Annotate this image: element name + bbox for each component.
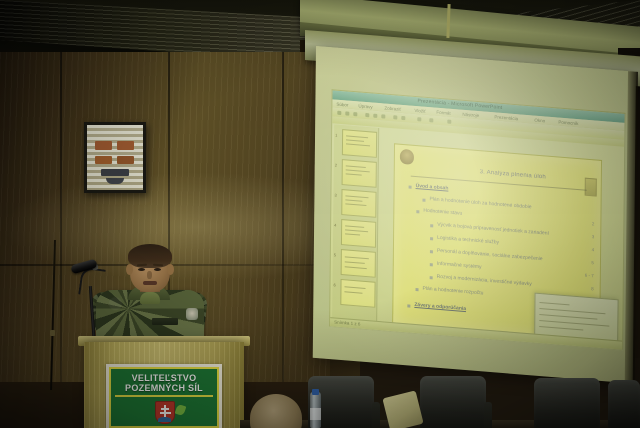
slide-bullet-icon: [430, 276, 433, 279]
slide-emblem-icon: [585, 178, 597, 197]
slide-thumbnail-number: 1: [335, 133, 337, 138]
water-bottle-label: [310, 408, 321, 420]
auditorium-seat: [420, 376, 486, 428]
toolbar-open-icon[interactable]: [345, 111, 349, 115]
slide-thumbnail-number: 2: [335, 163, 337, 168]
slide-line: Plán a hodnotenie úloh za hodnotené obdo…: [429, 196, 531, 210]
projection-screen: Prezentácia - Microsoft PowerPoint Súbor…: [313, 46, 636, 383]
speaker-ear-left: [126, 264, 133, 275]
slide-thumbnail-number: 6: [333, 282, 335, 287]
organization-logo-icon: [400, 149, 414, 165]
slide-line: Hodnotenie stavu: [423, 208, 462, 217]
projected-presentation-window: Prezentácia - Microsoft PowerPoint Súbor…: [329, 89, 625, 350]
podium-sign-divider: [115, 395, 213, 397]
menu-item-help[interactable]: Pomocník: [558, 119, 578, 126]
slovak-coat-of-arms-icon: [155, 401, 175, 424]
picture-shape: [101, 169, 129, 176]
podium-sign-inner: VELITEĽSTVO POZEMNÝCH SÍL: [109, 367, 219, 428]
picture-shape: [117, 156, 134, 164]
toolbar-chart-icon[interactable]: [429, 118, 433, 122]
slide-line: Výcvik a bojová pripravenosť jednotiek a…: [437, 222, 549, 237]
slide-thumbnail-number: 5: [334, 252, 336, 257]
status-text: Snímka 1 z 6: [334, 319, 360, 326]
speaker-nose: [147, 271, 152, 279]
auditorium-seat: [608, 380, 640, 428]
picture-shape: [117, 141, 134, 150]
slide-line: Úvod a obsah: [416, 183, 449, 192]
wall-panel-seam: [282, 52, 284, 428]
menu-item-view[interactable]: Zobraziť: [384, 105, 401, 111]
slide-bullet-icon: [422, 199, 425, 202]
slide-page-number: 2: [592, 221, 595, 226]
linden-leaf-icon: [175, 404, 187, 416]
slide-thumbnail[interactable]: [341, 249, 376, 278]
speaker-mouth: [143, 281, 157, 285]
slide-thumbnail-number: 4: [334, 222, 336, 227]
slide-bullet-icon: [409, 185, 412, 188]
water-bottle-cap: [312, 389, 319, 395]
papers-on-seat: [382, 390, 423, 428]
toolbar-print-icon[interactable]: [365, 112, 369, 116]
slide-page-number: 5: [591, 260, 594, 265]
seat-armrest: [484, 402, 492, 428]
conference-hall-photo: Prezentácia - Microsoft PowerPoint Súbor…: [0, 0, 640, 428]
menu-item-file[interactable]: Súbor: [336, 101, 348, 107]
framed-wall-picture: [84, 122, 146, 193]
menu-item-window[interactable]: Okno: [534, 117, 545, 123]
slide-bullet-icon: [407, 304, 410, 307]
speaker-eye-left: [138, 268, 145, 271]
slide-line: Logistika a technické služby: [437, 235, 499, 246]
menu-item-insert[interactable]: Vložiť: [414, 107, 426, 113]
podium-sign-line-2: POZEMNÝCH SÍL: [111, 383, 217, 393]
slide-thumbnail[interactable]: [341, 219, 376, 248]
slide-line: Informačné systémy: [437, 261, 482, 271]
picture-artwork: [87, 125, 143, 190]
shoulder-patch: [186, 308, 198, 320]
picture-shape: [95, 156, 112, 164]
slide-page-number: 6 - 7: [585, 273, 594, 279]
speaking-podium: VELITEĽSTVO POZEMNÝCH SÍL: [84, 342, 244, 428]
slide-line: Personál a doplňovanie, sociálne zabezpe…: [437, 248, 543, 262]
picture-shape: [95, 141, 112, 150]
slide-line: Plán a hodnotenie rozpočtu: [423, 286, 484, 297]
seat-armrest: [372, 402, 380, 428]
menu-item-edit[interactable]: Úpravy: [358, 103, 372, 109]
slide-thumbnail-number: 3: [334, 192, 336, 197]
podium-sign-line-1: VELITEĽSTVO: [111, 373, 217, 383]
slide-bullet-icon: [430, 224, 433, 227]
undershirt: [140, 292, 160, 304]
toolbar-save-icon[interactable]: [353, 112, 357, 116]
slide-page-number: 3: [592, 234, 595, 239]
toolbar-new-icon[interactable]: [337, 110, 341, 114]
slide-page-number: 8: [591, 286, 594, 291]
slide-page-number: 4: [592, 247, 595, 252]
slide-bullet-icon: [416, 210, 419, 213]
slide-line: Rozvoj a modernizácia, investičné výdavk…: [437, 274, 532, 288]
cable-clip: [50, 330, 55, 336]
slide-thumbnail[interactable]: [341, 189, 376, 218]
toolbar-redo-icon[interactable]: [401, 115, 405, 119]
podium-sign-plaque: VELITEĽSTVO POZEMNÝCH SÍL: [106, 364, 222, 428]
toolbar-undo-icon[interactable]: [393, 115, 397, 119]
slide-bullet-icon: [430, 250, 433, 253]
slide-bullet-icon: [416, 288, 419, 291]
toolbar-zoom-icon[interactable]: [447, 119, 451, 123]
slide-thumbnail[interactable]: [342, 129, 377, 158]
uniform-name-tape: [152, 318, 178, 325]
speaker-hair: [128, 244, 172, 268]
slide-bullet-icon: [430, 263, 433, 266]
auditorium-seat: [534, 378, 600, 428]
toolbar-cut-icon[interactable]: [373, 113, 377, 117]
speaker-eye-right: [154, 268, 161, 271]
slide-bullet-icon: [430, 237, 433, 240]
menu-item-tools[interactable]: Nástroje: [462, 111, 479, 117]
slide-line: Závery a odporúčania: [414, 302, 466, 312]
toolbar-table-icon[interactable]: [417, 117, 421, 121]
wall-panel-seam: [60, 52, 62, 428]
picture-shape: [106, 178, 124, 184]
slide-thumbnail[interactable]: [340, 279, 375, 308]
slide-thumbnail-panel[interactable]: 1 2 3 4: [332, 124, 379, 327]
speaker-ear-right: [167, 264, 174, 275]
toolbar-copy-icon[interactable]: [381, 114, 385, 118]
menu-item-format[interactable]: Formát: [436, 109, 450, 115]
slide-thumbnail[interactable]: [342, 159, 377, 188]
